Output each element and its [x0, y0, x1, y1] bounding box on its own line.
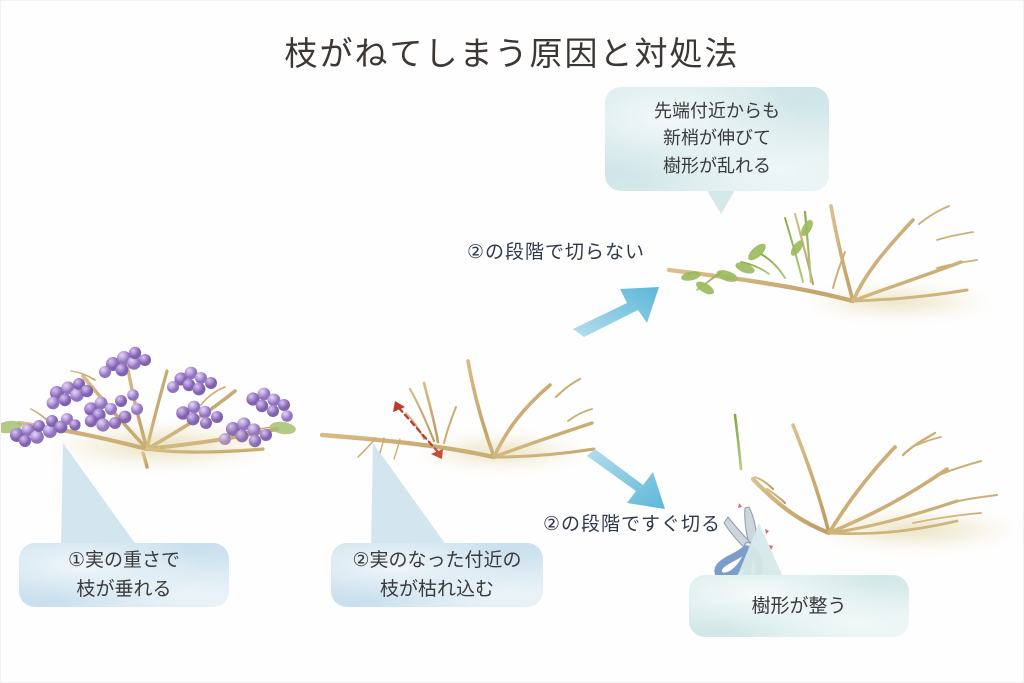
bubble-top-right: 先端付近からも 新梢が伸びて 樹形が乱れる — [605, 87, 829, 191]
page-title: 枝がねてしまう原因と対処法 — [1, 27, 1023, 75]
bubble-tail — [731, 521, 791, 581]
bubble-line: 先端付近からも — [654, 98, 780, 125]
bubble-line: 新梢が伸びて — [654, 125, 780, 152]
bubble-bottom-right: 樹形が整う — [689, 575, 909, 637]
bubble-line: 樹形が整う — [751, 592, 846, 621]
ground-shadow — [811, 288, 986, 316]
bubble-bottom-middle-group: ②実のなった付近の 枝が枯れ込む — [331, 437, 551, 607]
bubble-line: ②実のなった付近の — [352, 546, 521, 575]
illustration-stage3-untidy — [661, 196, 1011, 326]
illustration-page: 枝がねてしまう原因と対処法 — [0, 0, 1024, 683]
bubble-bottom-right-group: 樹形が整う — [689, 521, 919, 641]
bubble-top-right-group: 先端付近からも 新梢が伸びて 樹形が乱れる — [605, 87, 833, 209]
bubble-bottom-left-group: ①実の重さで 枝が垂れる — [19, 437, 239, 607]
arrow-down-right-icon — [577, 441, 687, 517]
bubble-tail — [701, 187, 741, 215]
leaf — [680, 218, 815, 297]
bubble-bottom-left: ①実の重さで 枝が垂れる — [19, 543, 229, 607]
bubble-line: 枝が枯れ込む — [352, 575, 521, 604]
bubble-bottom-middle: ②実のなった付近の 枝が枯れ込む — [331, 543, 543, 607]
new-shoot — [735, 415, 751, 473]
bubble-line: ①実の重さで — [68, 546, 180, 575]
bubble-line: 樹形が乱れる — [654, 153, 780, 180]
bubble-line: 枝が垂れる — [68, 575, 180, 604]
arrow-up-right-icon — [567, 273, 677, 343]
label-do-not-cut: ②の段階で切らない — [467, 237, 645, 264]
